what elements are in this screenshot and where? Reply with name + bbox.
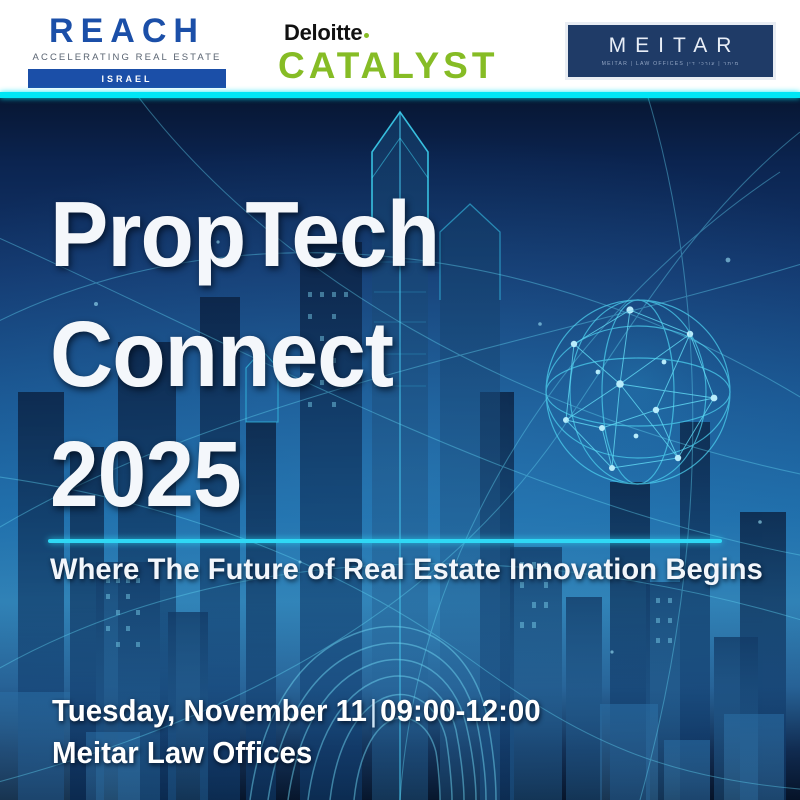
catalyst-wordmark: CATALYST xyxy=(278,47,510,84)
datetime-separator: | xyxy=(367,693,380,728)
event-title: PropTech Connect 2025 xyxy=(50,174,439,534)
event-details: Tuesday, November 11|09:00-12:00 Meitar … xyxy=(52,690,541,774)
meitar-subtitle: MEITAR | LAW OFFICES מיתר | עורכי דין xyxy=(602,61,740,67)
deloitte-wordmark: Deloitte xyxy=(278,22,510,44)
title-divider xyxy=(48,539,722,543)
deloitte-catalyst-logo[interactable]: Deloitte CATALYST xyxy=(278,22,510,84)
event-date: Tuesday, November 11 xyxy=(52,693,367,728)
event-datetime-row: Tuesday, November 11|09:00-12:00 xyxy=(52,690,541,732)
sponsor-logo-bar: REACH ACCELERATING REAL ESTATE ISRAEL De… xyxy=(0,0,800,92)
title-line-3: 2025 xyxy=(50,414,439,534)
title-line-1: PropTech xyxy=(50,174,439,294)
deloitte-green-dot-icon xyxy=(364,33,369,38)
title-line-2: Connect xyxy=(50,294,439,414)
meitar-logo[interactable]: MEITAR MEITAR | LAW OFFICES מיתר | עורכי… xyxy=(565,22,776,80)
meitar-wordmark: MEITAR xyxy=(601,35,741,56)
reach-region-badge: ISRAEL xyxy=(28,69,226,88)
reach-wordmark: REACH xyxy=(28,14,226,48)
event-tagline: Where The Future of Real Estate Innovati… xyxy=(50,551,763,589)
cyan-accent-bar xyxy=(0,92,800,98)
event-poster: PropTech Connect 2025 Where The Future o… xyxy=(0,0,800,800)
deloitte-label: Deloitte xyxy=(284,20,362,45)
reach-tagline: ACCELERATING REAL ESTATE xyxy=(28,52,226,63)
reach-logo[interactable]: REACH ACCELERATING REAL ESTATE ISRAEL xyxy=(28,14,226,88)
event-venue: Meitar Law Offices xyxy=(52,732,541,774)
event-time: 09:00-12:00 xyxy=(380,693,540,728)
poster-content: PropTech Connect 2025 Where The Future o… xyxy=(0,92,800,800)
reach-region-label: ISRAEL xyxy=(101,74,152,84)
